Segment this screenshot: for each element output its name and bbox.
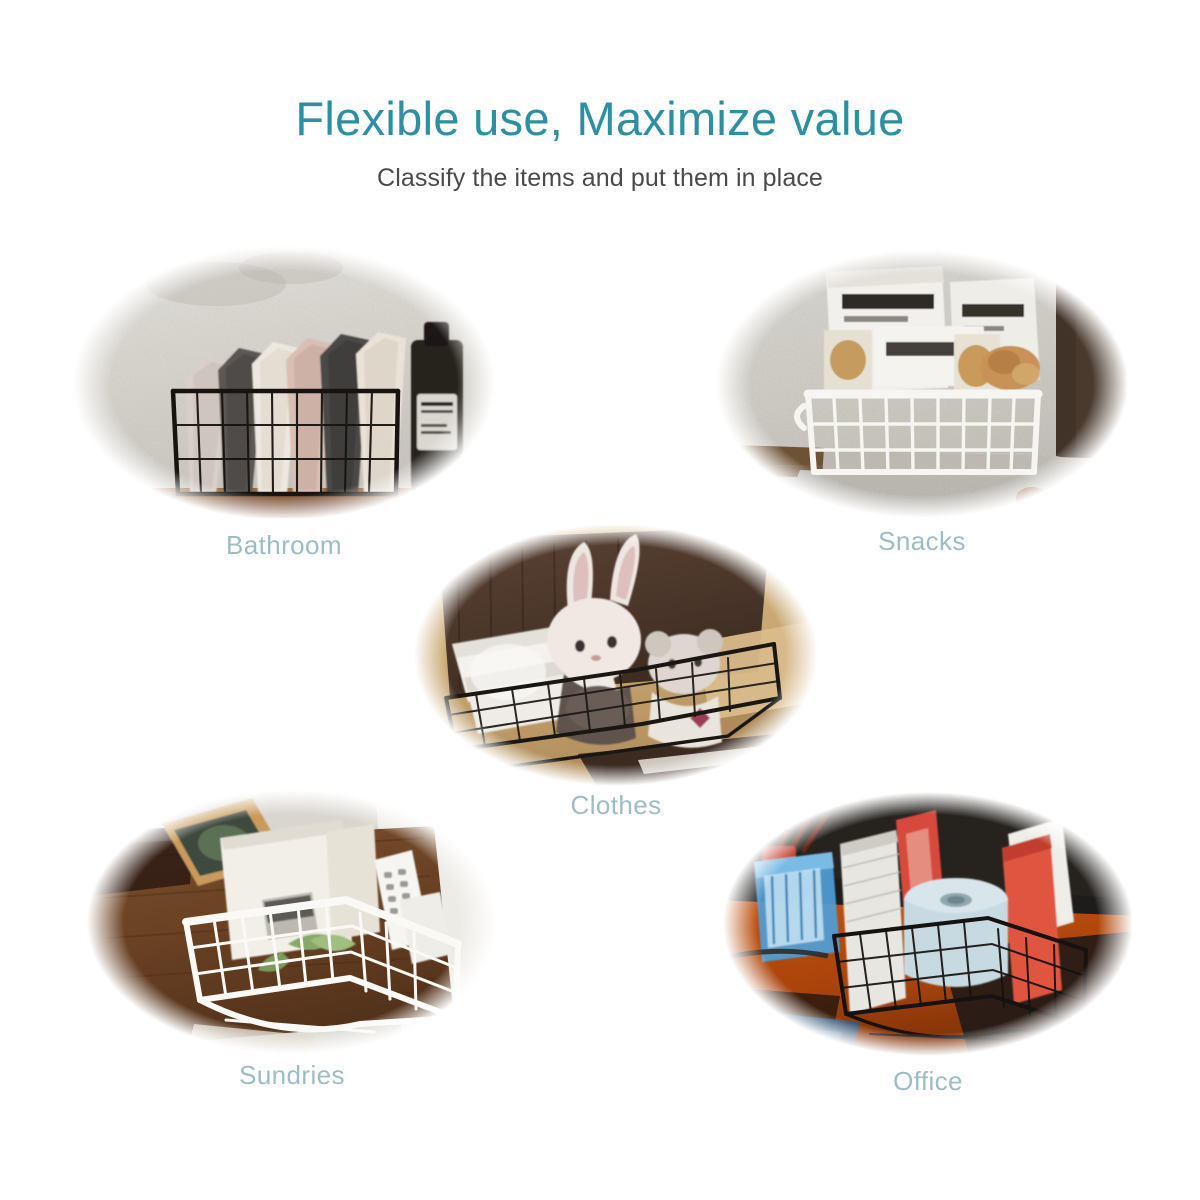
header: Flexible use, Maximize value Classify th… xyxy=(0,92,1200,193)
scene-office-photo xyxy=(710,790,1146,1058)
scene-sundries: Sundries xyxy=(74,788,510,1056)
scene-bathroom-photo xyxy=(66,244,502,522)
page-title: Flexible use, Maximize value xyxy=(0,92,1200,146)
scene-clothes: Clothes xyxy=(398,522,834,788)
promo-page: Flexible use, Maximize value Classify th… xyxy=(0,0,1200,1200)
scene-snacks-photo xyxy=(704,248,1140,520)
scene-caption-sundries: Sundries xyxy=(74,1060,510,1091)
scene-snacks: Snacks xyxy=(704,248,1140,520)
scene-office: Office xyxy=(710,790,1146,1058)
scene-sundries-photo xyxy=(74,788,510,1056)
scene-clothes-photo xyxy=(398,522,834,788)
scene-caption-office: Office xyxy=(710,1066,1146,1097)
scene-bathroom: Bathroom xyxy=(66,244,502,522)
page-subtitle: Classify the items and put them in place xyxy=(0,164,1200,193)
